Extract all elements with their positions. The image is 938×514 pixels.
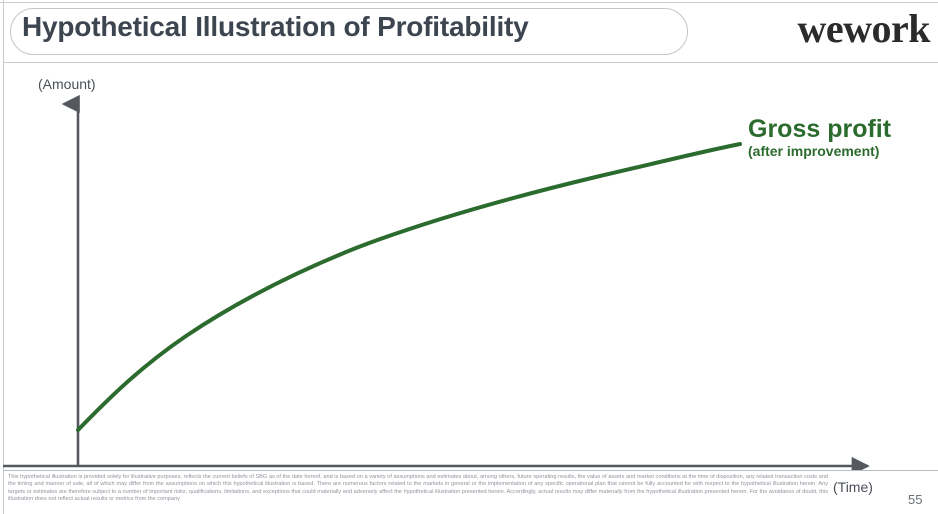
page-title: Hypothetical Illustration of Profitabili… [22, 11, 529, 43]
x-axis-label: (Time) [833, 479, 873, 495]
y-axis-label: (Amount) [38, 76, 96, 92]
slide-canvas: Hypothetical Illustration of Profitabili… [0, 0, 938, 514]
page-number: 55 [908, 492, 922, 507]
slide-top-border [0, 2, 938, 3]
series-callout: Gross profit (after improvement) [748, 116, 891, 159]
series-callout-title: Gross profit [748, 116, 891, 143]
gross-profit-curve [78, 144, 740, 430]
disclaimer-text: This hypothetical illustration is provid… [8, 474, 828, 504]
wework-logo: wework [797, 7, 930, 51]
footer-divider [3, 470, 938, 471]
series-callout-subtitle: (after improvement) [748, 143, 891, 159]
